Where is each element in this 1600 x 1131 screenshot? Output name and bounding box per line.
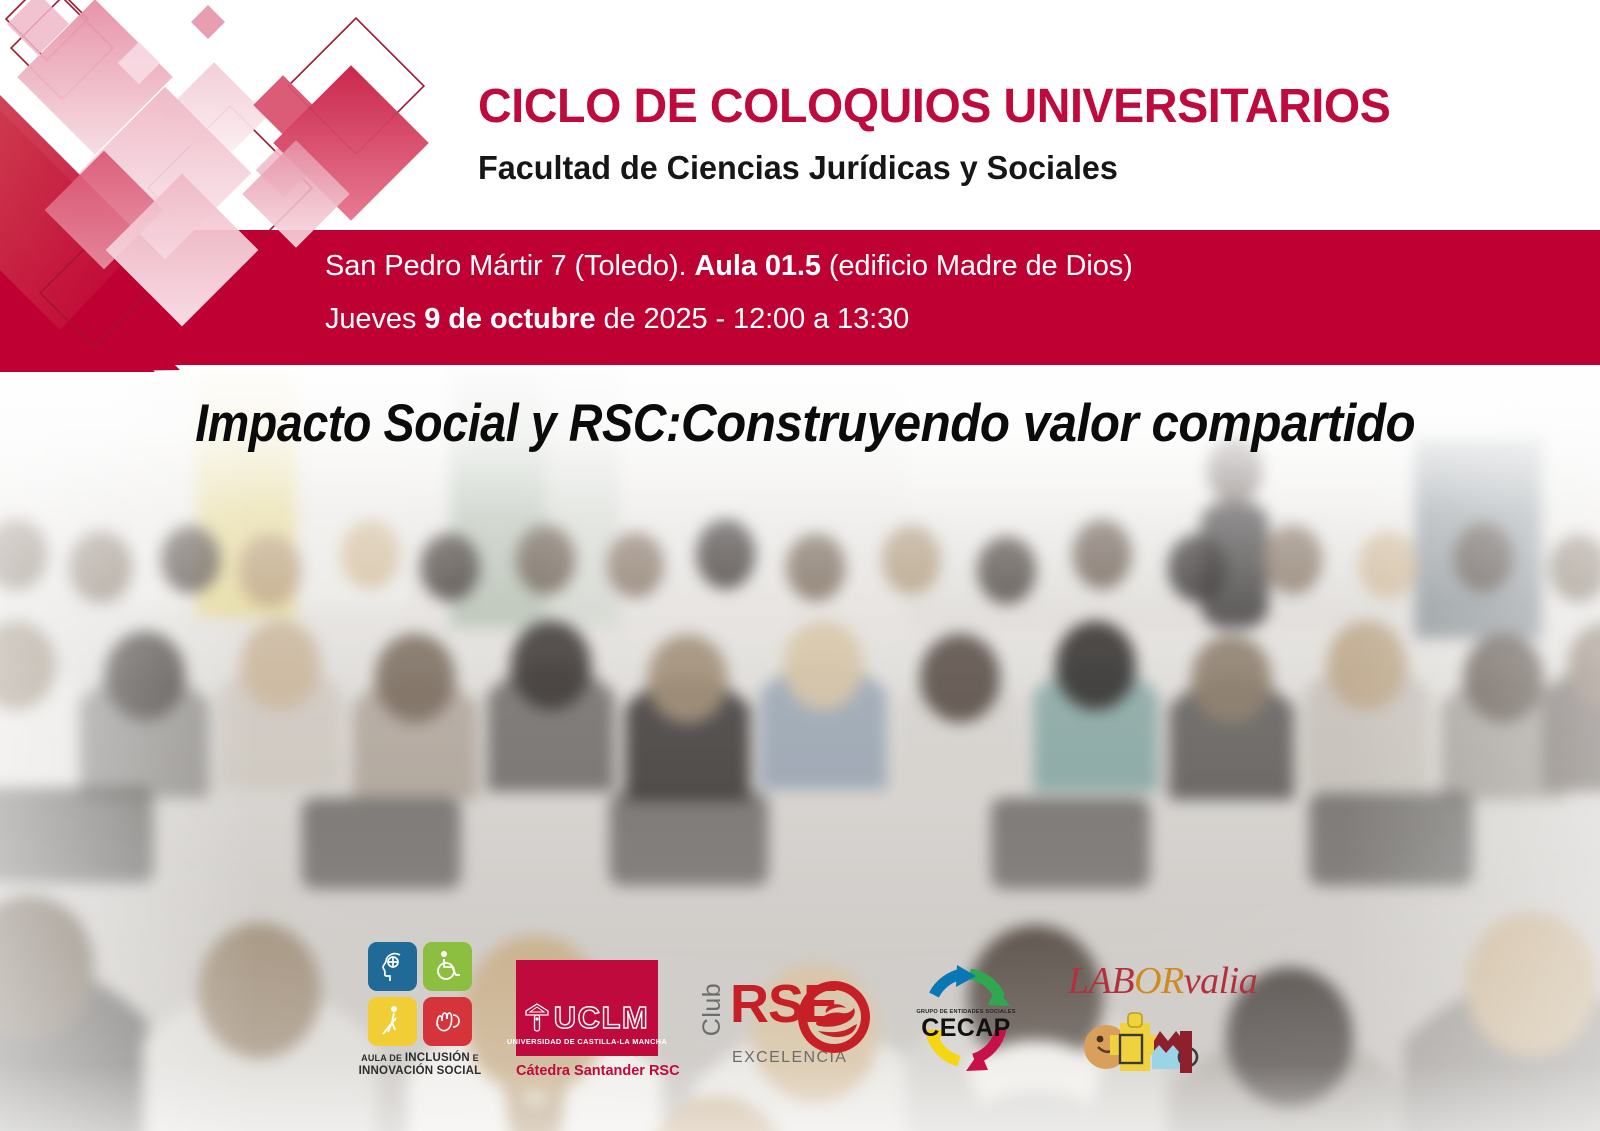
venue-room: Aula 01.5 — [694, 250, 820, 282]
uclm-box: UCLM UNIVERSIDAD DE CASTILLA-LA MANCHA — [516, 960, 658, 1056]
blind-cane-icon — [368, 997, 417, 1046]
logo-cecap[interactable]: GRUPO DE ENTIDADES SOCIALES CECAP — [904, 959, 1028, 1079]
aula-caption: AULA DE INCLUSIÓN E INNOVACIÓN SOCIAL — [358, 1052, 482, 1079]
laborvalia-wordmark: LABORvalia — [1068, 959, 1257, 1003]
aula-caption-line1: AULA DE INCLUSIÓN E — [358, 1052, 482, 1066]
uclm-wordmark-row: UCLM — [525, 1002, 650, 1033]
aula-cap-aula-de: AULA DE — [361, 1053, 405, 1063]
page-subtitle: Facultad de Ciencias Jurídicas y Sociale… — [478, 150, 1400, 186]
date-year-time: de 2025 - 12:00 a 13:30 — [595, 303, 909, 335]
header-text-group: CICLO DE COLOQUIOS UNIVERSITARIOS Facult… — [478, 82, 1419, 187]
event-title: Impacto Social y RSC: Construyendo valor… — [0, 393, 1600, 454]
logo-club-rse[interactable]: Club RSE EXCELENCIA — [692, 961, 870, 1079]
cecap-wordmark: CECAP — [904, 1015, 1028, 1041]
venue-line: San Pedro Mártir 7 (Toledo). Aula 01.5 (… — [325, 250, 1133, 283]
venue-street: San Pedro Mártir 7 (Toledo). — [325, 250, 694, 282]
logo-aula-inclusion[interactable]: AULA DE INCLUSIÓN E INNOVACIÓN SOCIAL — [358, 942, 482, 1079]
aula-icon-grid — [368, 942, 472, 1046]
date-weekday: Jueves — [325, 303, 424, 335]
laborvalia-figures-icon — [1084, 1001, 1220, 1082]
date-day-month: 9 de octubre — [424, 303, 595, 335]
aula-cap-inclusion: INCLUSIÓN — [405, 1052, 470, 1064]
logo-uclm[interactable]: UCLM UNIVERSIDAD DE CASTILLA-LA MANCHA C… — [516, 960, 658, 1079]
laborvalia-valia: valia — [1184, 960, 1257, 1002]
uclm-caption: Cátedra Santander RSC — [516, 1063, 658, 1079]
poster-root: San Pedro Mártir 7 (Toledo). Aula 01.5 (… — [0, 0, 1600, 1131]
event-title-light: Construyendo valor compartido — [681, 393, 1415, 454]
rse-club-word: Club — [698, 983, 727, 1036]
laborvalia-lab: LAB — [1068, 960, 1134, 1002]
aula-cap-social: SOCIAL — [433, 1065, 481, 1077]
aula-cap-innovacion: INNOVACIÓN — [359, 1065, 434, 1077]
datetime-line: Jueves 9 de octubre de 2025 - 12:00 a 13… — [325, 303, 909, 336]
event-title-strong: Impacto Social y RSC: — [196, 393, 682, 454]
aula-cap-e: E — [470, 1053, 479, 1063]
uclm-shield-icon — [525, 1003, 549, 1033]
uclm-wordmark: UCLM — [554, 1002, 650, 1033]
logo-strip: AULA DE INCLUSIÓN E INNOVACIÓN SOCIAL UC — [0, 939, 1600, 1079]
aula-caption-line2: INNOVACIÓN SOCIAL — [358, 1065, 482, 1079]
cecap-text-group: GRUPO DE ENTIDADES SOCIALES CECAP — [904, 1009, 1028, 1041]
logo-laborvalia[interactable]: LABORvalia — [1062, 957, 1242, 1079]
info-banner: San Pedro Mártir 7 (Toledo). Aula 01.5 (… — [0, 230, 1600, 365]
rse-hands-icon — [796, 979, 872, 1060]
venue-building: (edificio Madre de Dios) — [821, 250, 1133, 282]
uclm-tagline: UNIVERSIDAD DE CASTILLA-LA MANCHA — [507, 1037, 667, 1046]
page-title: CICLO DE COLOQUIOS UNIVERSITARIOS — [478, 82, 1390, 132]
head-brain-icon — [368, 942, 417, 991]
wheelchair-icon — [423, 942, 472, 991]
sign-language-icon — [423, 997, 472, 1046]
laborvalia-or: OR — [1134, 960, 1184, 1002]
